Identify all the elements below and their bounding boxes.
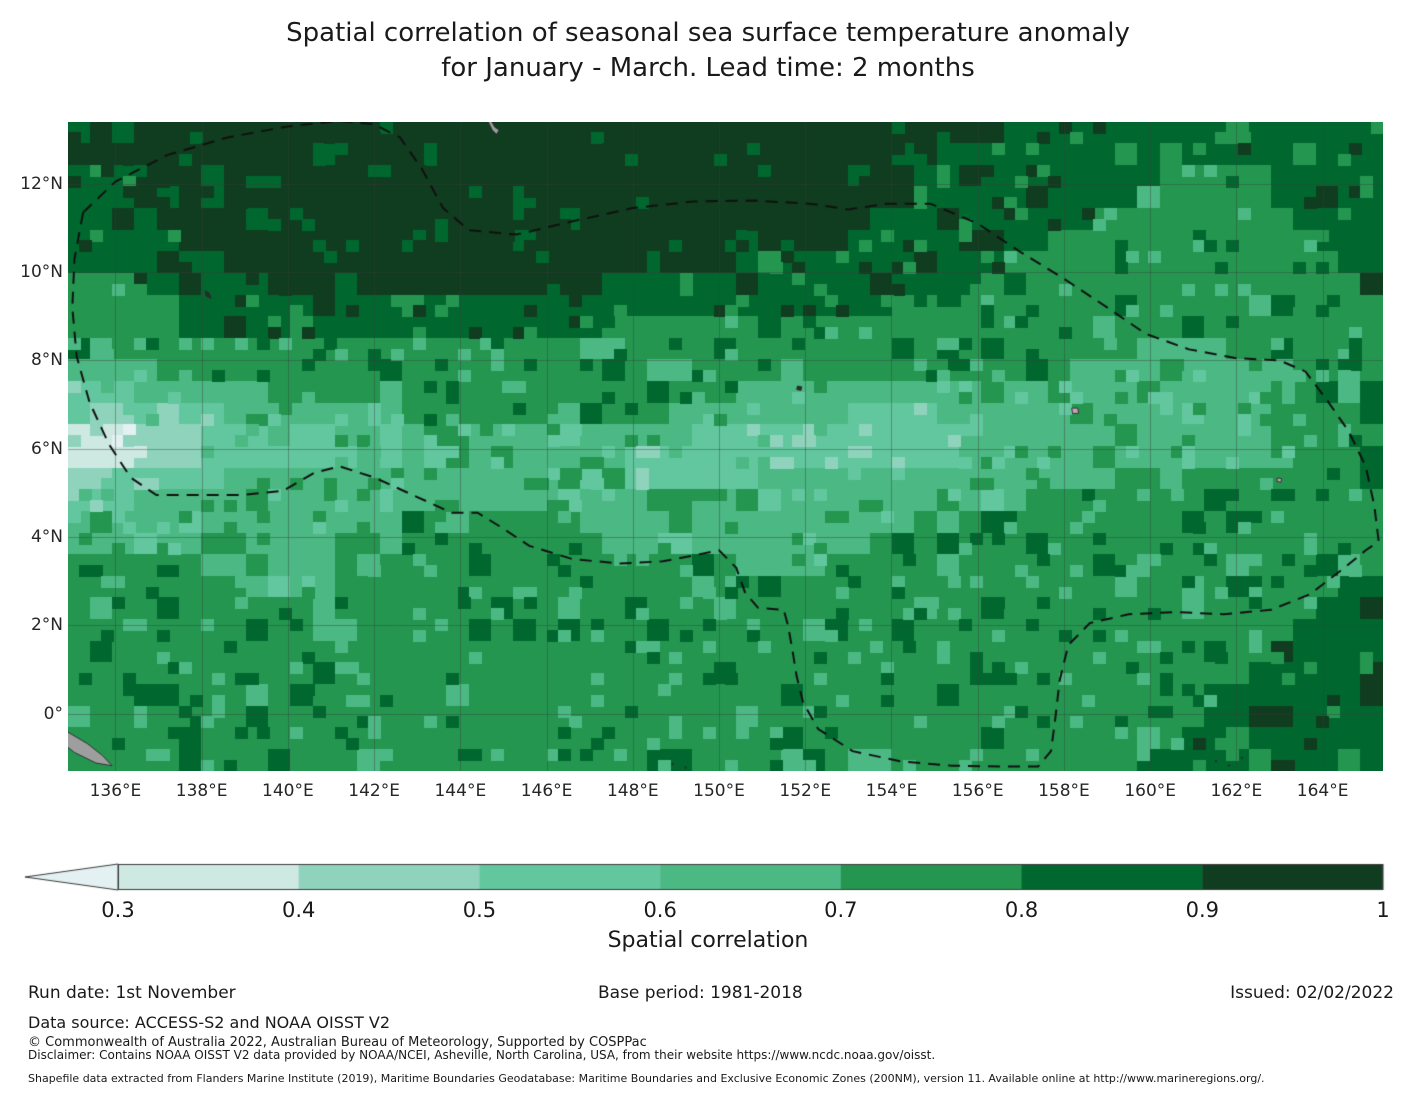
y-tick-label: 10°N [20, 262, 63, 282]
x-tick-label: 138°E [176, 781, 228, 801]
colorbar-title: Spatial correlation [0, 928, 1416, 953]
base-period-label: Base period: 1981-2018 [598, 983, 803, 1003]
colorbar-tick-label: 0.9 [1186, 898, 1219, 922]
x-tick-label: 164°E [1297, 781, 1349, 801]
x-tick-label: 146°E [521, 781, 573, 801]
data-source-label: Data source: ACCESS-S2 and NOAA OISST V2 [28, 1013, 390, 1032]
x-tick-label: 154°E [866, 781, 918, 801]
y-tick-label: 6°N [31, 439, 63, 459]
shapefile-label: Shapefile data extracted from Flanders M… [28, 1072, 1265, 1085]
x-tick-label: 148°E [607, 781, 659, 801]
colorbar-gradient [0, 862, 1416, 898]
colorbar-tick-label: 0.8 [1005, 898, 1038, 922]
correlation-heatmap-canvas [68, 122, 1383, 771]
colorbar-tick-label: 0.3 [101, 898, 134, 922]
x-tick-label: 162°E [1211, 781, 1263, 801]
issued-date-label: Issued: 02/02/2022 [1230, 983, 1394, 1003]
colorbar-tick-label: 1 [1376, 898, 1389, 922]
x-tick-label: 152°E [779, 781, 831, 801]
y-tick-label: 8°N [31, 350, 63, 370]
footer-row-primary: Run date: 1st November Base period: 1981… [0, 983, 1416, 1007]
x-tick-label: 156°E [952, 781, 1004, 801]
run-date-label: Run date: 1st November [28, 983, 236, 1003]
map-plot-area [68, 122, 1383, 771]
y-tick-label: 4°N [31, 527, 63, 547]
x-tick-label: 150°E [693, 781, 745, 801]
colorbar-tick-label: 0.5 [463, 898, 496, 922]
y-tick-label: 12°N [20, 174, 63, 194]
y-tick-label: 0° [44, 704, 63, 724]
x-tick-label: 136°E [90, 781, 142, 801]
colorbar-tick-label: 0.7 [824, 898, 857, 922]
colorbar-tick-label: 0.4 [282, 898, 315, 922]
chart-page: Spatial correlation of seasonal sea surf… [0, 0, 1416, 1095]
x-tick-label: 160°E [1124, 781, 1176, 801]
x-tick-label: 144°E [434, 781, 486, 801]
colorbar-tick-label: 0.6 [643, 898, 676, 922]
x-tick-label: 142°E [348, 781, 400, 801]
y-tick-label: 2°N [31, 615, 63, 635]
x-tick-label: 140°E [262, 781, 314, 801]
colorbar: 0.30.40.50.60.70.80.91 [0, 862, 1416, 922]
x-tick-label: 158°E [1038, 781, 1090, 801]
disclaimer-label: Disclaimer: Contains NOAA OISST V2 data … [28, 1048, 935, 1062]
page-title: Spatial correlation of seasonal sea surf… [0, 16, 1416, 86]
